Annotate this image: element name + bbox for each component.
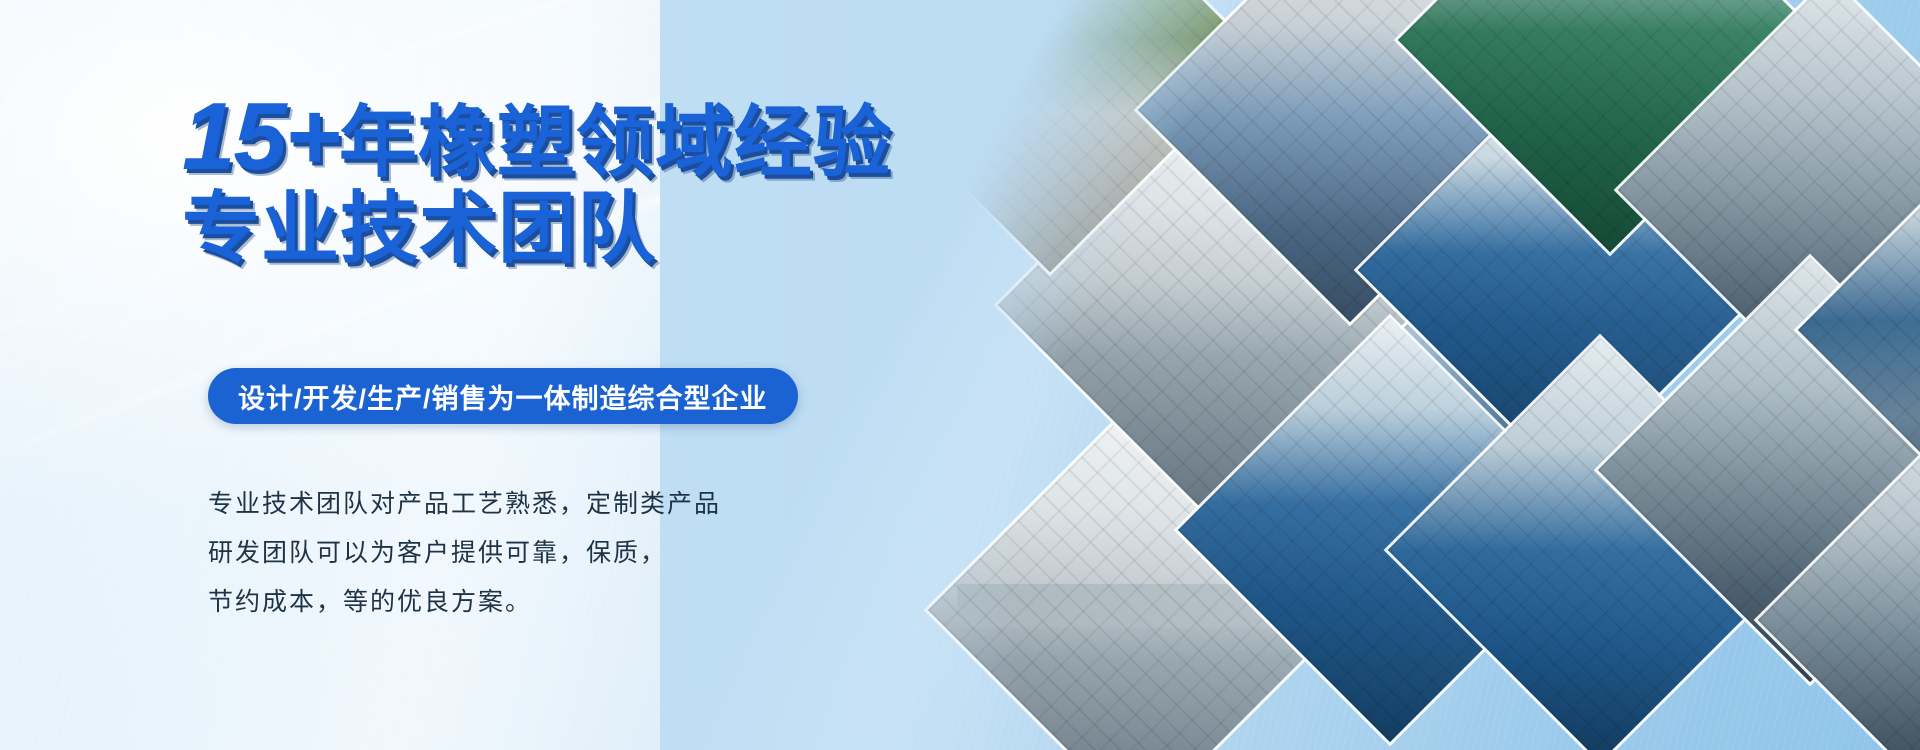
description-line-2: 研发团队可以为客户提供可靠，保质， <box>208 529 868 578</box>
tagline-pill: 设计/开发/生产/销售为一体制造综合型企业 <box>208 368 798 424</box>
description-paragraph: 专业技术团队对产品工艺熟悉，定制类产品 研发团队可以为客户提供可靠，保质， 节约… <box>208 480 868 627</box>
headline-line1-text: 年橡塑领域经验 <box>339 98 892 186</box>
headline: 15+年橡塑领域经验 专业技术团队 <box>182 96 942 269</box>
banner-text-block: 15+年橡塑领域经验 专业技术团队 设计/开发/生产/销售为一体制造综合型企业 … <box>0 0 980 750</box>
headline-years-number: 15+ <box>182 83 339 190</box>
description-line-3: 节约成本，等的优良方案。 <box>208 578 868 627</box>
headline-line2-text: 专业技术团队 <box>182 187 942 269</box>
promo-banner: 15+年橡塑领域经验 专业技术团队 设计/开发/生产/销售为一体制造综合型企业 … <box>0 0 1920 750</box>
description-line-1: 专业技术团队对产品工艺熟悉，定制类产品 <box>208 480 868 529</box>
